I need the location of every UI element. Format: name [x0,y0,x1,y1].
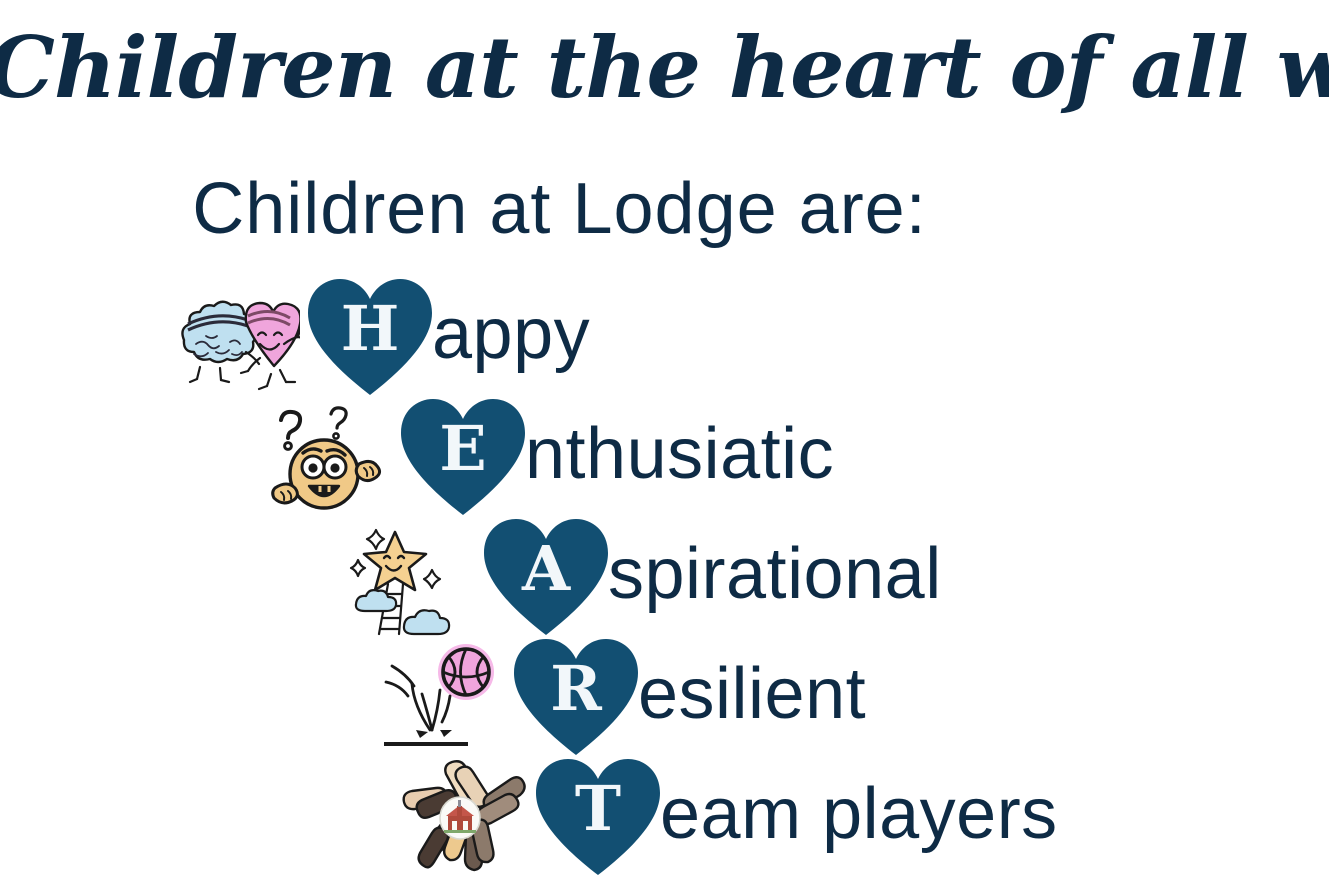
poster-canvas: Children at the heart of all we do Child… [0,0,1329,894]
heart-badge-r: R [510,635,642,759]
heart-letter-h: H [304,275,436,399]
star-ladder-clouds-doodle-icon [348,518,476,636]
hands-together-school-crest-doodle-icon [400,758,528,876]
subtitle-text: Children at Lodge are: [192,168,926,250]
heart-badge-h: H [304,275,436,399]
acronym-word-resilient: esilient [638,658,866,736]
acronym-word-team-players: eam players [660,778,1058,856]
bouncing-basketball-doodle-icon [378,638,506,756]
heart-badge-e: E [397,395,529,519]
acronym-row-enthusiatic: E nthusiatic [265,392,834,522]
brain-and-heart-doodle-icon [172,278,300,396]
subtitle: Children at Lodge are: [0,168,1329,250]
acronym-row-resilient: R esilient [378,632,866,762]
acronym-row-aspirational: A spirational [348,512,942,642]
heart-letter-r: R [510,635,642,759]
heart-letter-t: T [532,755,664,879]
excited-face-doodle-icon [265,398,393,516]
page-title: Children at the heart of all we do [0,18,1329,117]
acronym-word-happy: appy [432,298,590,376]
heart-badge-t: T [532,755,664,879]
acronym-word-aspirational: spirational [608,538,942,616]
heart-letter-e: E [397,395,529,519]
heart-letter-a: A [480,515,612,639]
heart-badge-a: A [480,515,612,639]
acronym-row-happy: H appy [172,272,590,402]
acronym-row-team-players: T eam players [400,752,1058,882]
acronym-word-enthusiatic: nthusiatic [525,418,834,496]
